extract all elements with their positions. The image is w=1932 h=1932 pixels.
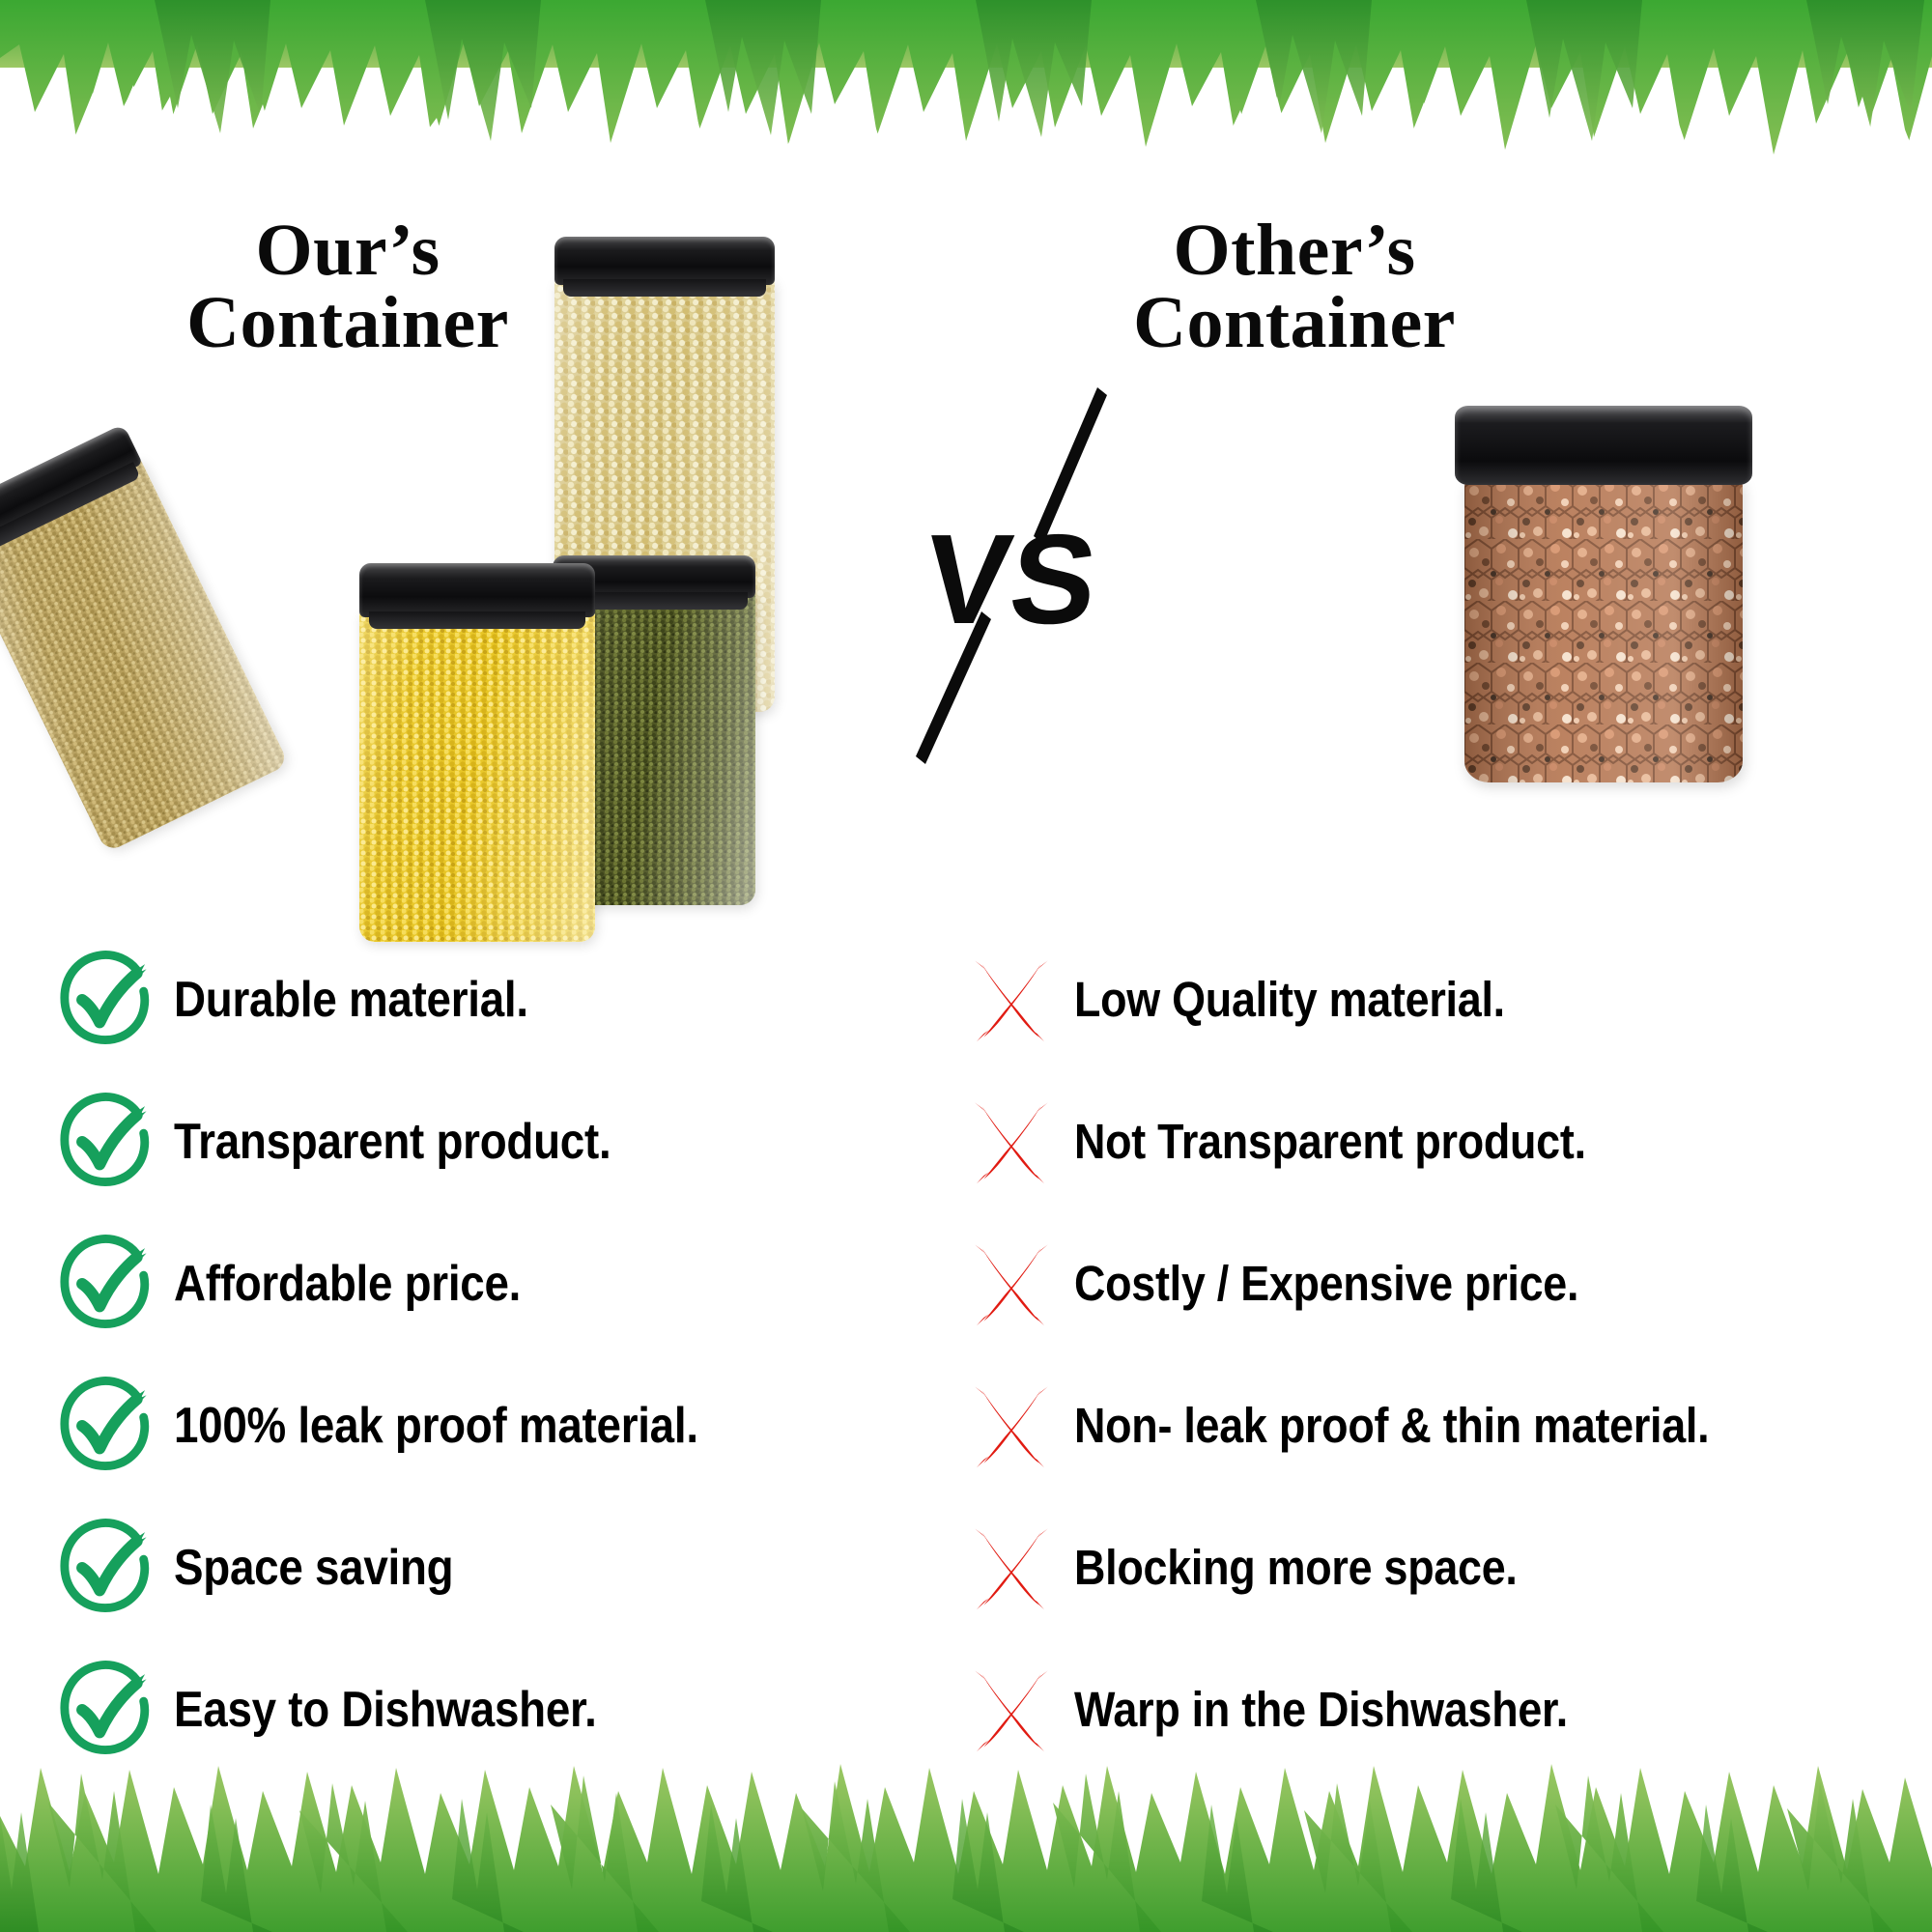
comparison-infographic: Our’s Container Other’s Container	[0, 0, 1932, 1932]
feature-label: Easy to Dishwasher.	[174, 1662, 597, 1735]
title-line-2: Container	[1082, 287, 1507, 359]
feature-label: Durable material.	[174, 952, 528, 1025]
jar-lid-icon	[359, 563, 595, 617]
container-jar-toor-dal	[359, 563, 595, 942]
round-jar-contents	[1464, 477, 1743, 782]
check-circle-icon	[56, 950, 156, 1050]
cross-mark-icon	[966, 1097, 1055, 1186]
vs-divider-icon: VS	[908, 382, 1121, 768]
feature-label: Affordable price.	[174, 1236, 521, 1309]
feature-label: Transparent product.	[174, 1094, 611, 1167]
title-line-1: Other’s	[1082, 214, 1507, 287]
feature-label: Space saving	[174, 1520, 453, 1593]
feature-label: Costly / Expensive price.	[1074, 1236, 1578, 1308]
ours-feature-list: Durable material. Transparent product. A…	[56, 952, 945, 1804]
cross-mark-icon	[966, 1665, 1055, 1754]
container-jar-bajra	[0, 424, 289, 853]
list-item: Blocking more space.	[966, 1520, 1922, 1662]
list-item: Affordable price.	[56, 1236, 945, 1378]
check-circle-icon	[56, 1234, 156, 1334]
check-circle-icon	[56, 1518, 156, 1618]
cross-mark-icon	[966, 1523, 1055, 1612]
grass-border-top-icon	[0, 0, 1932, 169]
feature-label: Non- leak proof & thin material.	[1074, 1378, 1709, 1450]
vs-label: VS	[919, 508, 1104, 651]
feature-label: Blocking more space.	[1074, 1520, 1518, 1592]
jar-body	[359, 611, 595, 942]
feature-label: Low Quality material.	[1074, 952, 1505, 1024]
feature-label: 100% leak proof material.	[174, 1378, 698, 1451]
ours-container-product-image	[97, 237, 869, 942]
round-jar-lid-icon	[1455, 406, 1752, 485]
list-item: Non- leak proof & thin material.	[966, 1378, 1922, 1520]
cross-mark-icon	[966, 955, 1055, 1044]
jar-glass-reflection	[359, 611, 595, 942]
cross-mark-icon	[966, 1381, 1055, 1470]
jar-lid-icon	[554, 237, 775, 285]
list-item: 100% leak proof material.	[56, 1378, 945, 1520]
list-item: Costly / Expensive price.	[966, 1236, 1922, 1378]
check-circle-icon	[56, 1376, 156, 1476]
round-jar-body	[1464, 477, 1743, 782]
others-feature-list: Low Quality material. Not Transparent pr…	[966, 952, 1922, 1804]
list-item: Space saving	[56, 1520, 945, 1662]
others-container-product-image	[1449, 406, 1758, 792]
feature-label: Warp in the Dishwasher.	[1074, 1662, 1568, 1734]
feature-label: Not Transparent product.	[1074, 1094, 1586, 1166]
cross-mark-icon	[966, 1239, 1055, 1328]
list-item: Low Quality material.	[966, 952, 1922, 1094]
list-item: Warp in the Dishwasher.	[966, 1662, 1922, 1804]
check-circle-icon	[56, 1660, 156, 1760]
page-title-others: Other’s Container	[1082, 214, 1507, 359]
check-circle-icon	[56, 1092, 156, 1192]
list-item: Transparent product.	[56, 1094, 945, 1236]
list-item: Durable material.	[56, 952, 945, 1094]
list-item: Easy to Dishwasher.	[56, 1662, 945, 1804]
list-item: Not Transparent product.	[966, 1094, 1922, 1236]
